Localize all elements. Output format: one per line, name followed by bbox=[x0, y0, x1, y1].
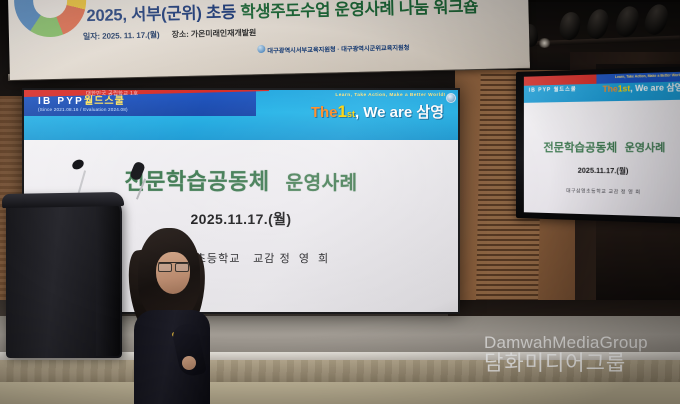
presentation-scene-photo: 대한민국 공립학교 1호 IB PYP월드스쿨 (Since 2021.08.1… bbox=[0, 0, 680, 404]
slide-title-sub: 운영사례 bbox=[286, 173, 358, 194]
side-monitor: IB PYP 월드스쿨 Learn, Take Action, Make a B… bbox=[516, 66, 680, 224]
slogan-we-are: , We are bbox=[355, 104, 412, 121]
presenter-role: 교감 bbox=[253, 253, 275, 265]
banner-lighting-shade bbox=[8, 0, 530, 80]
slide-motto-text: Learn, Take Action, Make a Better World! bbox=[335, 93, 446, 98]
podium-side-edge bbox=[96, 200, 120, 356]
monitor-glare bbox=[524, 72, 680, 218]
slide-slogan: The1st, We are 삼영 bbox=[311, 103, 444, 120]
side-monitor-screen: IB PYP 월드스쿨 Learn, Take Action, Make a B… bbox=[524, 72, 680, 218]
slogan-school-name: 삼영 bbox=[416, 104, 444, 121]
podium-top-surface bbox=[2, 192, 124, 208]
slogan-the: The bbox=[311, 104, 338, 121]
event-banner: 2025, 서부(군위) 초등 학생주도수업 운영사례 나눔 워크숍 일자: 2… bbox=[8, 0, 530, 80]
presenter-person bbox=[120, 228, 228, 404]
slide-header-band: 대한민국 공립학교 1호 IB PYP월드스쿨 (Since 2021.08.1… bbox=[24, 90, 458, 140]
presenter-face bbox=[156, 252, 190, 294]
slide-title: 전문학습공동체운영사례 bbox=[24, 164, 458, 196]
ib-world-school-logo: 대한민국 공립학교 1호 IB PYP월드스쿨 (Since 2021.08.1… bbox=[38, 91, 218, 115]
ib-logo-main-text: IB PYP월드스쿨 bbox=[38, 97, 125, 107]
ib-logo-en: IB PYP bbox=[38, 96, 84, 107]
presenter-name: 정 영 희 bbox=[280, 253, 331, 265]
spotlight-lens-glow bbox=[538, 38, 551, 48]
slogan-ordinal: st bbox=[347, 109, 355, 119]
school-emblem-icon bbox=[446, 93, 456, 103]
presenter-hand bbox=[182, 356, 196, 370]
floor bbox=[0, 382, 680, 404]
glasses-icon bbox=[158, 262, 189, 269]
ib-logo-sub-text: (Since 2021.08.16 / Evaluation 2024.08) bbox=[38, 108, 128, 113]
slogan-number: 1 bbox=[337, 102, 346, 121]
slide-title-main: 전문학습공동체 bbox=[124, 169, 269, 194]
ib-logo-ko: 월드스쿨 bbox=[84, 96, 125, 107]
